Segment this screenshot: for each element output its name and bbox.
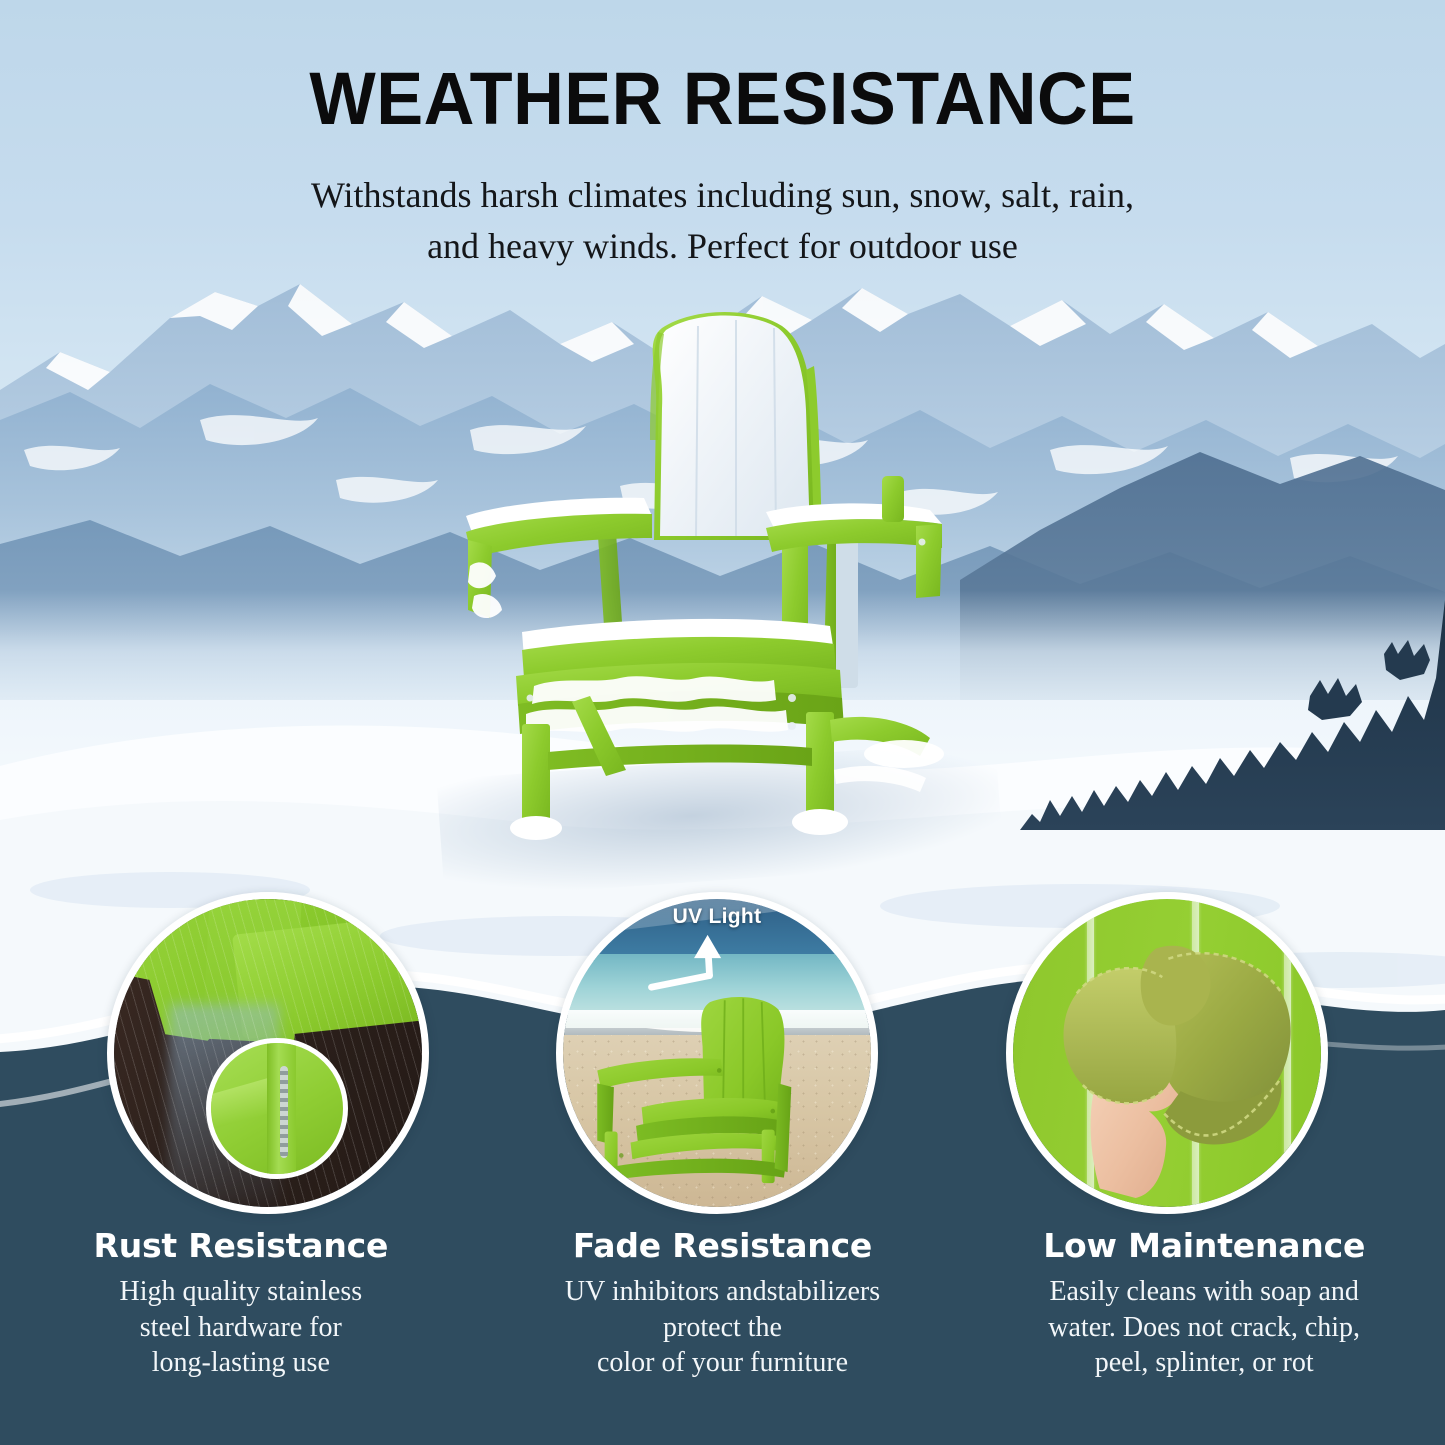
feature-image-rust-resistance <box>107 892 429 1214</box>
subtitle-line-1: Withstands harsh climates including sun,… <box>218 170 1228 221</box>
page-title: WEATHER RESISTANCE <box>36 62 1409 136</box>
desc-line-3: peel, splinter, or rot <box>989 1345 1419 1380</box>
stainless-chain-icon <box>280 1066 288 1158</box>
feature-title-rust-resistance: Rust Resistance <box>26 1228 456 1264</box>
desc-line-1: UV inhibitors andstabilizers <box>508 1274 938 1309</box>
green-beach-chair <box>588 991 847 1194</box>
feature-card-fade-resistance: Fade Resistance UV inhibitors andstabili… <box>482 1228 964 1380</box>
header-block: WEATHER RESISTANCE Withstands harsh clim… <box>0 62 1445 272</box>
feature-image-fade-resistance: UV Light <box>556 892 878 1214</box>
conifer-forest-silhouette <box>980 600 1445 830</box>
feature-image-low-maintenance <box>1006 892 1328 1214</box>
hero-snow-covered-chair <box>430 300 990 860</box>
feature-desc-fade-resistance: UV inhibitors andstabilizers protect the… <box>508 1274 938 1380</box>
desc-line-2: steel hardware for <box>26 1310 456 1345</box>
feature-desc-rust-resistance: High quality stainless steel hardware fo… <box>26 1274 456 1380</box>
feature-desc-low-maintenance: Easily cleans with soap and water. Does … <box>989 1274 1419 1380</box>
desc-line-1: High quality stainless <box>26 1274 456 1309</box>
desc-line-2: protect the <box>508 1310 938 1345</box>
page-subtitle: Withstands harsh climates including sun,… <box>218 170 1228 272</box>
microfiber-cloth <box>1038 917 1303 1176</box>
desc-line-3: long-lasting use <box>26 1345 456 1380</box>
uv-arrow-icon <box>646 933 769 1001</box>
desc-line-3: color of your furniture <box>508 1345 938 1380</box>
feature-title-fade-resistance: Fade Resistance <box>508 1228 938 1264</box>
weather-resistance-infographic: WEATHER RESISTANCE Withstands harsh clim… <box>0 0 1445 1445</box>
stainless-hardware-inset <box>206 1038 348 1180</box>
desc-line-1: Easily cleans with soap and <box>989 1274 1419 1309</box>
feature-card-low-maintenance: Low Maintenance Easily cleans with soap … <box>963 1228 1445 1380</box>
feature-cards: Rust Resistance High quality stainless s… <box>0 1228 1445 1380</box>
subtitle-line-2: and heavy winds. Perfect for outdoor use <box>218 221 1228 272</box>
uv-light-label: UV Light <box>673 905 762 929</box>
feature-card-rust-resistance: Rust Resistance High quality stainless s… <box>0 1228 482 1380</box>
feature-title-low-maintenance: Low Maintenance <box>989 1228 1419 1264</box>
desc-line-2: water. Does not crack, chip, <box>989 1310 1419 1345</box>
